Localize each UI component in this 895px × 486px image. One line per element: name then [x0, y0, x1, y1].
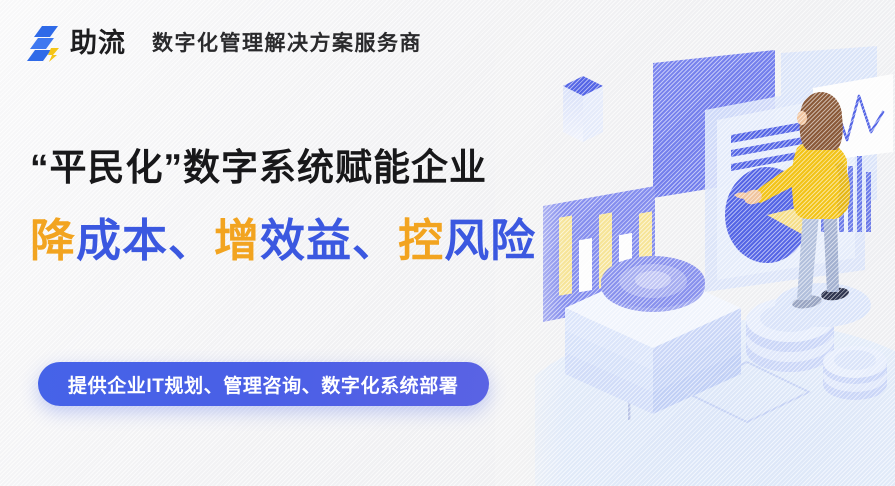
headline-part-control: 控	[398, 215, 444, 266]
data-dashboard-woman-illustration	[535, 0, 895, 486]
headline-part-cost: 成本、	[76, 215, 214, 266]
headline-primary: “平民化”数字系统赋能企业	[30, 148, 487, 189]
small-isometric-cube	[563, 76, 603, 142]
brand-tagline: 数字化管理解决方案服务商	[152, 33, 422, 54]
headline-part-increase: 增	[214, 215, 260, 266]
cta-services-pill[interactable]: 提供企业IT规划、管理咨询、数字化系统部署	[38, 362, 489, 406]
person-platform	[775, 283, 871, 327]
header: 助流 数字化管理解决方案服务商	[24, 22, 422, 64]
headline-part-benefit: 效益、	[260, 215, 398, 266]
hero-banner: 助流 数字化管理解决方案服务商 “平民化”数字系统赋能企业 降成本、增效益、控风…	[0, 0, 895, 486]
headline-part-reduce: 降	[30, 215, 76, 266]
lightning-bolt-logo-icon	[24, 22, 66, 64]
brand-name: 助流	[70, 30, 126, 57]
headline-secondary: 降成本、增效益、控风险	[30, 216, 536, 266]
headline-part-risk: 风险	[444, 215, 536, 266]
